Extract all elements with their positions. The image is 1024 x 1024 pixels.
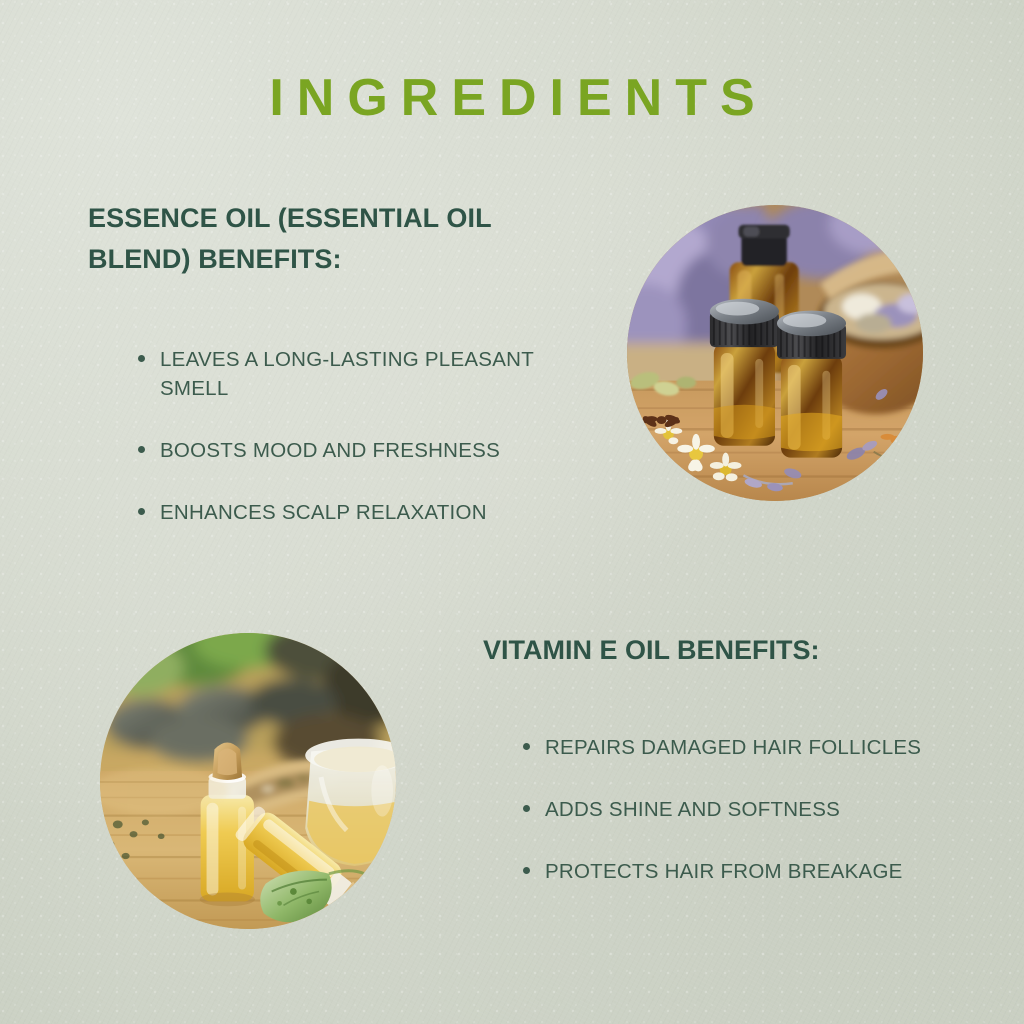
page-title: INGREDIENTS <box>0 70 1024 127</box>
list-item-label: ADDS SHINE AND SOFTNESS <box>545 795 953 824</box>
list-item-label: LEAVES A LONG-LASTING PLEASANT SMELL <box>160 345 568 403</box>
bullet-dot-icon <box>138 446 145 453</box>
list-item-label: REPAIRS DAMAGED HAIR FOLLICLES <box>545 733 953 762</box>
list-item-label: BOOSTS MOOD AND FRESHNESS <box>160 436 568 465</box>
benefits-list-vitamin-e: REPAIRS DAMAGED HAIR FOLLICLES ADDS SHIN… <box>523 733 953 886</box>
list-item-label: ENHANCES SCALP RELAXATION <box>160 498 568 527</box>
bullet-dot-icon <box>138 355 145 362</box>
section-heading-essence-oil: ESSENCE OIL (ESSENTIAL OIL BLEND) BENEFI… <box>88 198 558 279</box>
bullet-dot-icon <box>523 743 530 750</box>
list-item: LEAVES A LONG-LASTING PLEASANT SMELL <box>138 345 568 403</box>
list-item: PROTECTS HAIR FROM BREAKAGE <box>523 857 953 886</box>
bullet-dot-icon <box>523 805 530 812</box>
list-item: REPAIRS DAMAGED HAIR FOLLICLES <box>523 733 953 762</box>
benefits-list-essence-oil: LEAVES A LONG-LASTING PLEASANT SMELL BOO… <box>138 345 568 527</box>
vitamin-e-oil-photo <box>100 633 396 929</box>
list-item: ENHANCES SCALP RELAXATION <box>138 498 568 527</box>
ingredients-poster: INGREDIENTS ESSENCE OIL (ESSENTIAL OIL B… <box>0 0 1024 1024</box>
list-item-label: PROTECTS HAIR FROM BREAKAGE <box>545 857 953 886</box>
essence-oil-photo <box>627 205 923 501</box>
list-item: ADDS SHINE AND SOFTNESS <box>523 795 953 824</box>
list-item: BOOSTS MOOD AND FRESHNESS <box>138 436 568 465</box>
section-heading-vitamin-e: VITAMIN E OIL BENEFITS: <box>483 630 953 671</box>
bullet-dot-icon <box>523 867 530 874</box>
bullet-dot-icon <box>138 508 145 515</box>
